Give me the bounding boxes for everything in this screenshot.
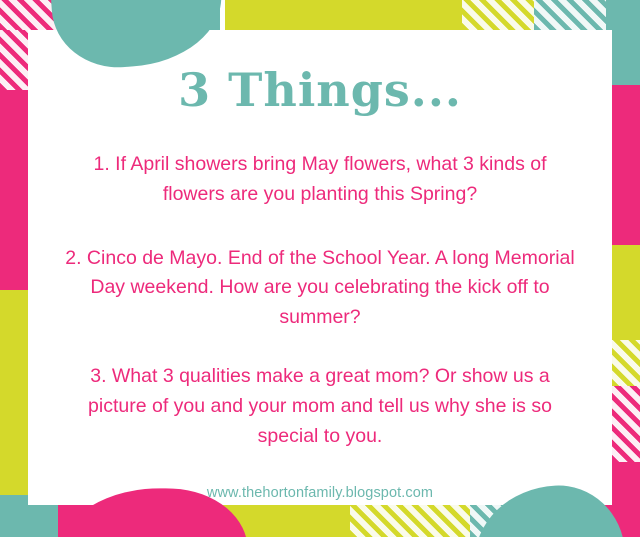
band-bottom-teal-left	[0, 505, 58, 537]
band-top-yellow	[225, 0, 462, 30]
band-top-right-teal	[606, 0, 640, 30]
band-top-teal-stripes	[534, 0, 606, 30]
question-item-2: 2. Cinco de Mayo. End of the School Year…	[60, 244, 580, 333]
band-left-pink	[0, 90, 28, 290]
site-url-link[interactable]: www.thehortonfamily.blogspot.com	[46, 485, 594, 501]
band-right-yellow	[612, 245, 640, 340]
band-top-yellow-stripes	[462, 0, 534, 30]
card-content: 3 Things... 1. If April showers bring Ma…	[28, 30, 612, 505]
band-right-pink-stripes	[612, 386, 640, 462]
band-left-pink-stripes	[0, 30, 28, 90]
band-bottom-yellow-stripes	[350, 505, 470, 537]
band-left-yellow	[0, 290, 28, 495]
question-item-1: 1. If April showers bring May flowers, w…	[65, 150, 575, 209]
graphic-canvas: 3 Things... 1. If April showers bring Ma…	[0, 0, 640, 537]
band-right-yellow-stripes	[612, 340, 640, 386]
question-item-3: 3. What 3 qualities make a great mom? Or…	[60, 362, 580, 451]
band-right-teal	[612, 30, 640, 85]
page-title: 3 Things...	[46, 66, 594, 114]
questions-list: 1. If April showers bring May flowers, w…	[46, 150, 594, 451]
band-right-pink	[612, 85, 640, 245]
